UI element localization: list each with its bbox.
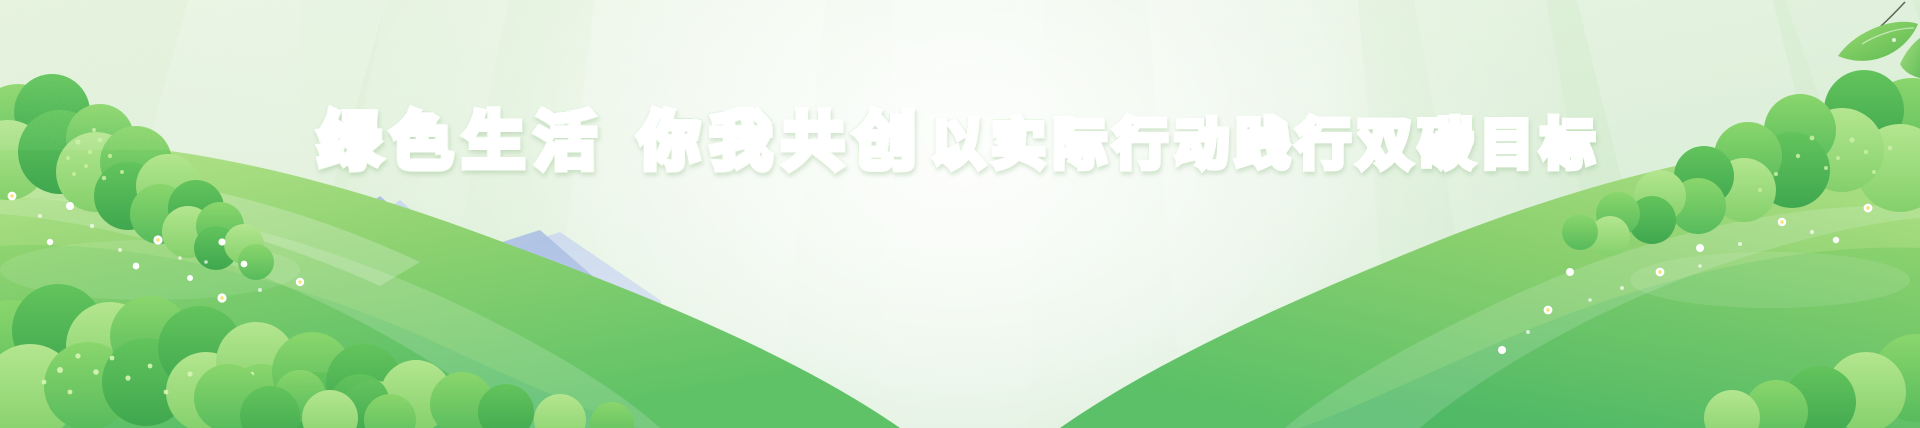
leaf-sprig-top-right	[1838, 2, 1920, 78]
scenery-illustration	[0, 0, 1920, 428]
eco-campaign-banner: 绿色生活 你我共创 绿色生活 你我共创 以实际行动践行双碳目标 以实际行动践行双…	[0, 0, 1920, 428]
